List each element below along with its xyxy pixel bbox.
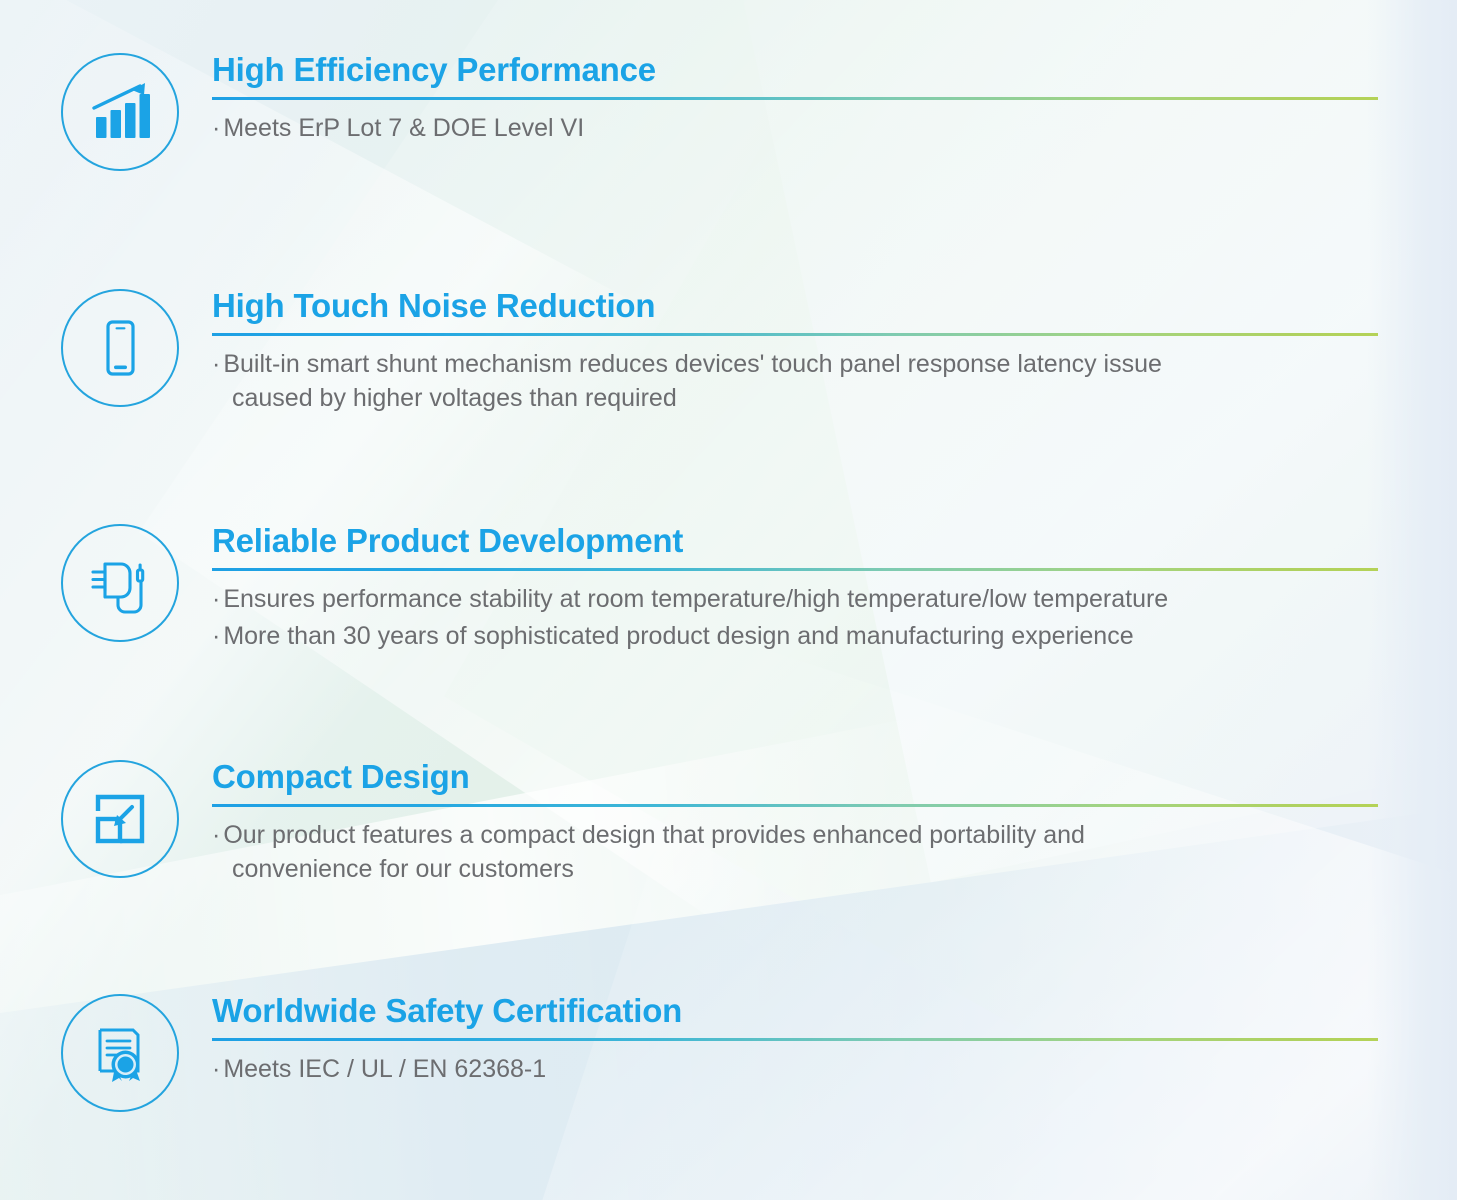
bullet-text: Our product features a compact design th… [223,821,1085,849]
bullet-glyph: · [212,347,220,381]
bullet-glyph: · [212,1052,220,1086]
feature-bullet-line: ·Ensures performance stability at room t… [212,582,1382,616]
certificate-seal-icon [61,994,179,1112]
feature-divider [212,568,1378,571]
feature-bullet-list: ·Meets IEC / UL / EN 62368-1 [212,1052,1382,1086]
feature-body: Reliable Product Development ·Ensures pe… [212,524,1382,653]
feature-divider [212,333,1378,336]
bullet-text: Meets IEC / UL / EN 62368-1 [223,1055,546,1083]
background-sweep-f [447,637,1457,1200]
feature-bullet-line: ·Meets ErP Lot 7 & DOE Level VI [212,111,1382,145]
feature-bullet-line: ·More than 30 years of sophisticated pro… [212,619,1382,653]
bullet-glyph: · [212,619,220,653]
bullet-glyph: · [212,582,220,616]
feature-bullet-line: ·Meets IEC / UL / EN 62368-1 [212,1052,1382,1086]
feature-bullet-line: ·Our product features a compact design t… [212,818,1382,886]
feature-divider [212,1038,1378,1041]
smartphone-icon [61,289,179,407]
power-adapter-icon [61,524,179,642]
bullet-text: Meets ErP Lot 7 & DOE Level VI [223,114,584,142]
feature-divider [212,97,1378,100]
feature-bullet-line: ·Built-in smart shunt mechanism reduces … [212,347,1382,415]
feature-bullet-list: ·Meets ErP Lot 7 & DOE Level VI [212,111,1382,145]
feature-highlights-page: High Efficiency Performance ·Meets ErP L… [0,0,1457,1200]
bullet-glyph: · [212,818,220,852]
feature-bullet-list: ·Our product features a compact design t… [212,818,1382,886]
bullet-glyph: · [212,111,220,145]
bullet-text-continued: caused by higher voltages than required [232,381,1382,415]
feature-title: High Touch Noise Reduction [212,289,1382,322]
bullet-text: Built-in smart shunt mechanism reduces d… [223,350,1162,378]
feature-body: High Touch Noise Reduction ·Built-in sma… [212,289,1382,415]
bullet-text: More than 30 years of sophisticated prod… [223,622,1133,650]
feature-title: Compact Design [212,760,1382,793]
bullet-text-continued: convenience for our customers [232,852,1382,886]
feature-divider [212,804,1378,807]
bullet-text: Ensures performance stability at room te… [223,585,1168,613]
feature-bullet-list: ·Built-in smart shunt mechanism reduces … [212,347,1382,415]
feature-title: High Efficiency Performance [212,53,1382,86]
feature-body: High Efficiency Performance ·Meets ErP L… [212,53,1382,145]
feature-body: Compact Design ·Our product features a c… [212,760,1382,886]
feature-bullet-list: ·Ensures performance stability at room t… [212,582,1382,653]
resize-shrink-icon [61,760,179,878]
feature-title: Worldwide Safety Certification [212,994,1382,1027]
background-sweep-d [0,629,1457,1200]
bar-chart-growth-icon [61,53,179,171]
feature-title: Reliable Product Development [212,524,1382,557]
feature-body: Worldwide Safety Certification ·Meets IE… [212,994,1382,1086]
